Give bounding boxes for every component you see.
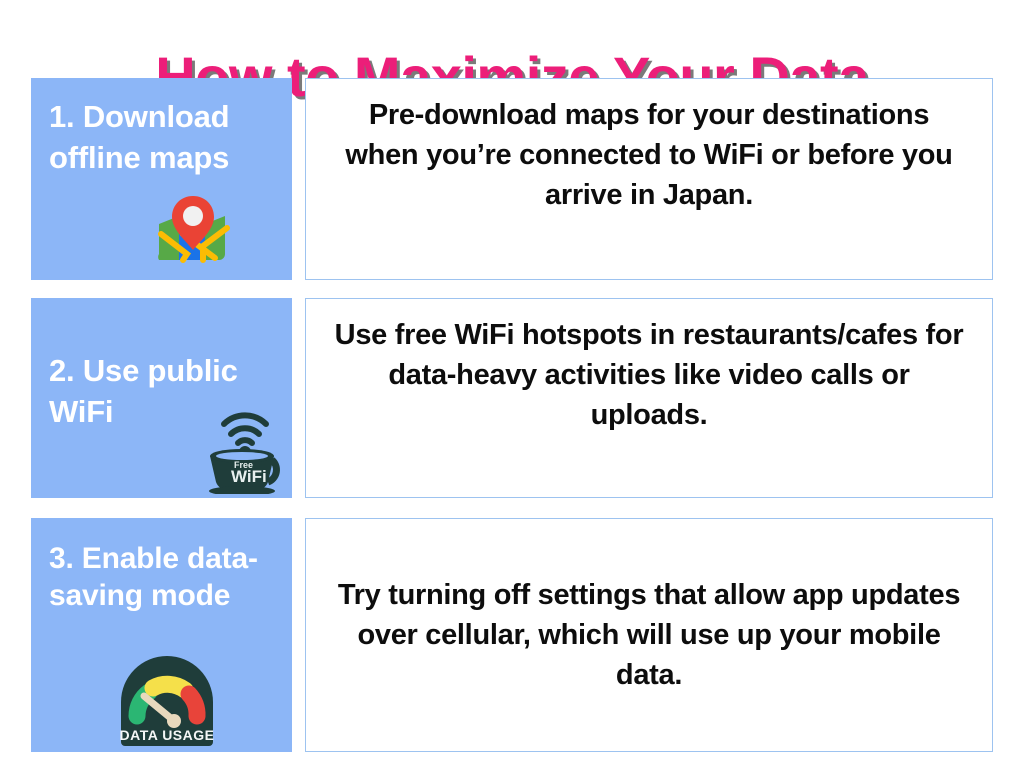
wifi-icon-large-text: WiFi — [231, 467, 267, 486]
tip-label-cell-2: 2. Use public WiFi — [31, 298, 292, 498]
tip-label-cell-3: 3. Enable data-saving mode DATA USAGE — [31, 518, 292, 752]
row-gutter — [292, 298, 305, 498]
tips-list: 1. Download offline maps — [31, 78, 993, 752]
tip-row-3: 3. Enable data-saving mode DATA USAGE Tr — [31, 518, 993, 752]
row-gutter — [292, 78, 305, 280]
tip-label-cell-1: 1. Download offline maps — [31, 78, 292, 280]
tip-row-2: 2. Use public WiFi — [31, 298, 993, 498]
tip-body-3: Try turning off settings that allow app … — [332, 575, 966, 695]
tip-panel-1: Pre-download maps for your destinations … — [305, 78, 993, 280]
map-pin-icon — [153, 194, 233, 271]
tip-body-2: Use free WiFi hotspots in restaurants/ca… — [332, 315, 966, 435]
tip-panel-2: Use free WiFi hotspots in restaurants/ca… — [305, 298, 993, 498]
row-gutter — [292, 518, 305, 752]
tip-row-1: 1. Download offline maps — [31, 78, 993, 280]
tip-panel-3: Try turning off settings that allow app … — [305, 518, 993, 752]
data-usage-gauge-icon: DATA USAGE — [115, 650, 219, 751]
tip-body-1: Pre-download maps for your destinations … — [332, 95, 966, 215]
tip-label-1: 1. Download offline maps — [49, 96, 282, 178]
tip-label-3: 3. Enable data-saving mode — [49, 536, 282, 614]
wifi-icon-small-text: Free — [234, 460, 253, 470]
gauge-icon-label: DATA USAGE — [120, 727, 215, 743]
tip-label-2: 2. Use public WiFi — [49, 316, 282, 432]
